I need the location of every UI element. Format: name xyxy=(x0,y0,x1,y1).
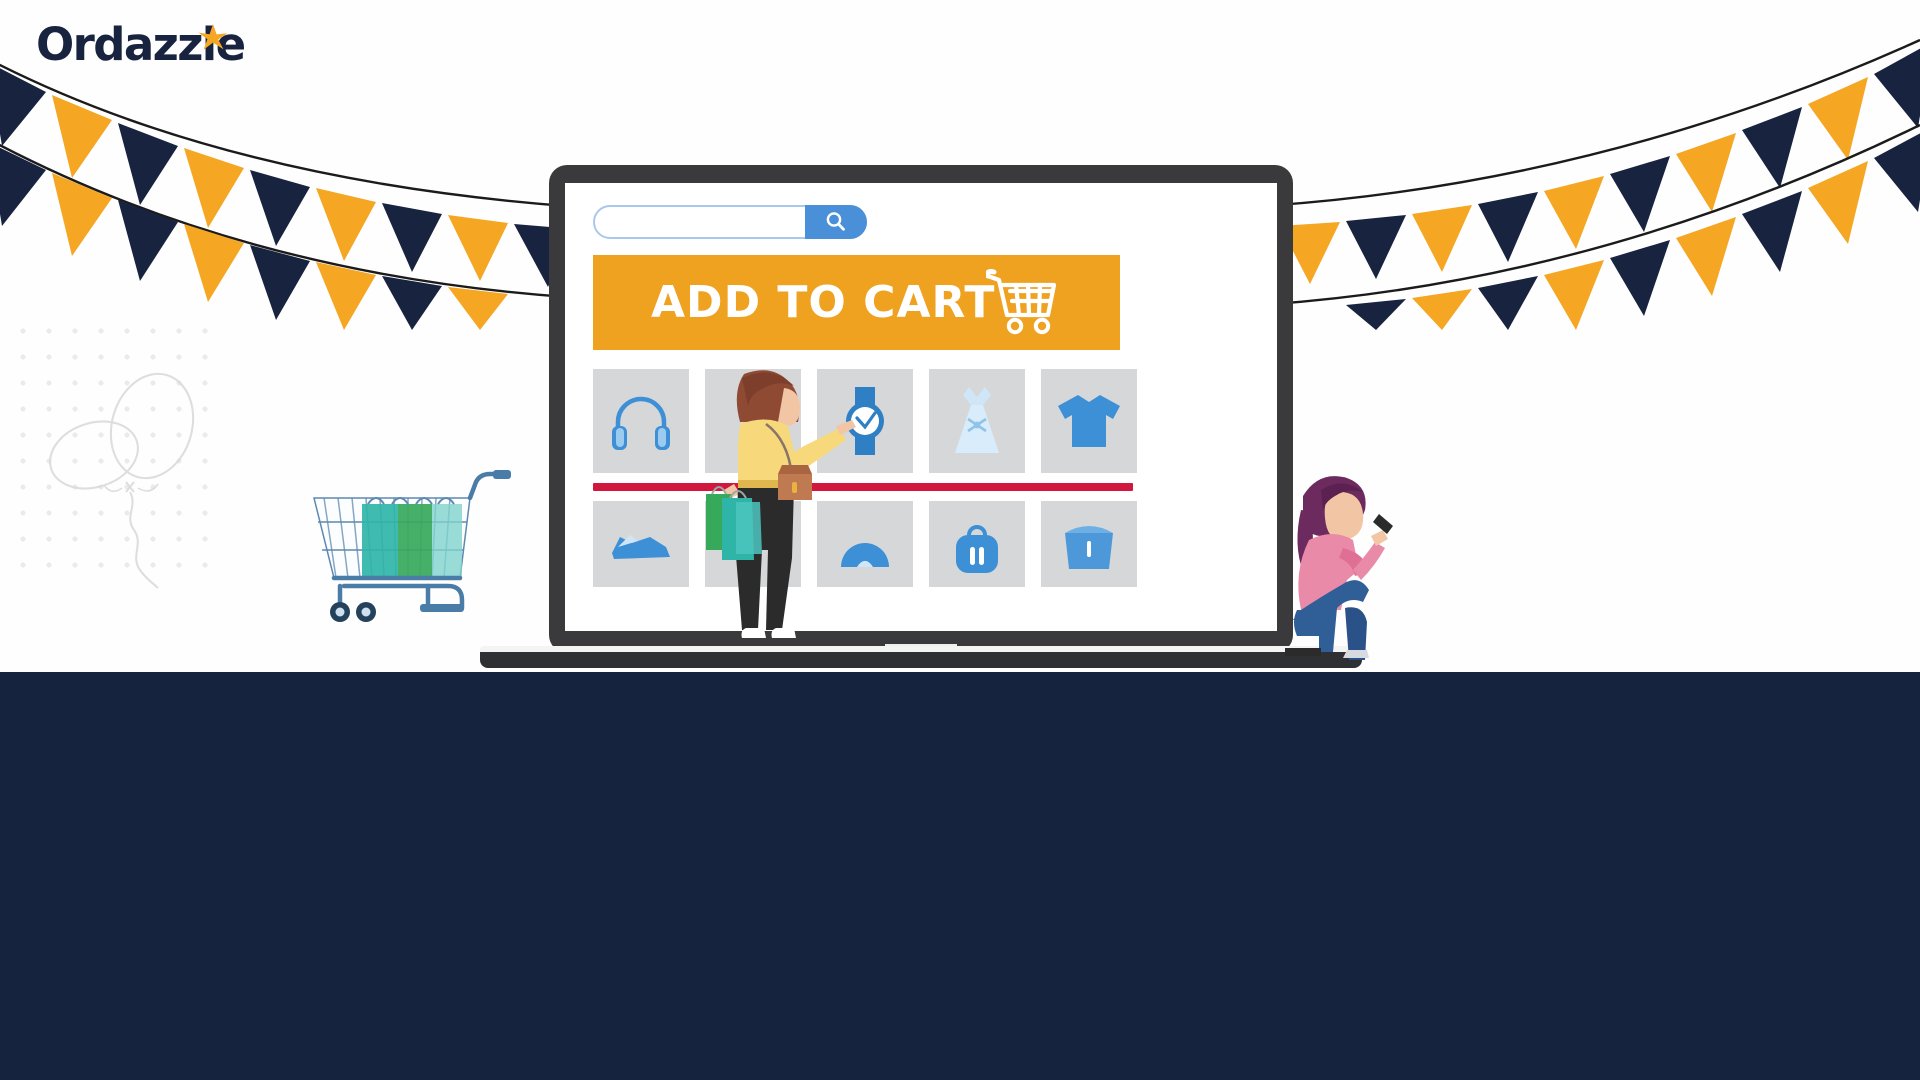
add-to-cart-button[interactable]: ADD TO CART xyxy=(593,255,1120,350)
bunting-right-row1 xyxy=(1214,42,1920,286)
balloon-outline-icon xyxy=(30,348,260,598)
laptop-base xyxy=(480,652,1362,668)
headline-banner: A comprehensive E-commerce Checklist to … xyxy=(0,672,1920,1080)
shopping-cart-icon xyxy=(986,269,1062,335)
product-tile-shoes[interactable] xyxy=(593,501,689,587)
bunting-left-row1 xyxy=(0,62,640,290)
product-divider xyxy=(593,483,1133,491)
hero-section: Ordazzle xyxy=(0,0,1920,672)
search-button[interactable] xyxy=(805,205,867,239)
product-tile-handbag[interactable] xyxy=(1041,501,1137,587)
bunting-right-row2 xyxy=(1346,127,1920,330)
product-row-2 xyxy=(593,501,1153,587)
woman-with-phone-illustration xyxy=(1285,470,1420,660)
handbag-icon xyxy=(1061,523,1117,569)
search-icon xyxy=(823,209,849,235)
shopping-bags-in-trolley xyxy=(362,498,462,578)
headphones-icon xyxy=(610,392,672,450)
product-tile-backpack[interactable] xyxy=(929,501,1025,587)
laptop-bezel: ADD TO CART xyxy=(549,165,1293,653)
search-bar[interactable] xyxy=(593,205,867,239)
product-tile-tshirt[interactable] xyxy=(1041,369,1137,473)
backpack-icon xyxy=(950,523,1004,573)
shoes-icon xyxy=(608,523,674,563)
tshirt-icon xyxy=(1056,393,1122,449)
product-row-1 xyxy=(593,369,1153,473)
product-tile-headphones[interactable] xyxy=(593,369,689,473)
laptop-screen: ADD TO CART xyxy=(565,183,1277,631)
star-icon xyxy=(196,22,230,56)
product-tile-dress[interactable] xyxy=(929,369,1025,473)
poster-canvas: Ordazzle xyxy=(0,0,1920,1080)
product-grid xyxy=(593,369,1153,587)
bunting-left-row2 xyxy=(0,142,508,330)
laptop-mockup: ADD TO CART xyxy=(549,165,1293,653)
add-to-cart-label: ADD TO CART xyxy=(651,277,995,328)
shopping-trolley-icon xyxy=(300,460,550,640)
dress-icon xyxy=(949,383,1005,459)
woman-shopper-illustration xyxy=(700,366,860,656)
